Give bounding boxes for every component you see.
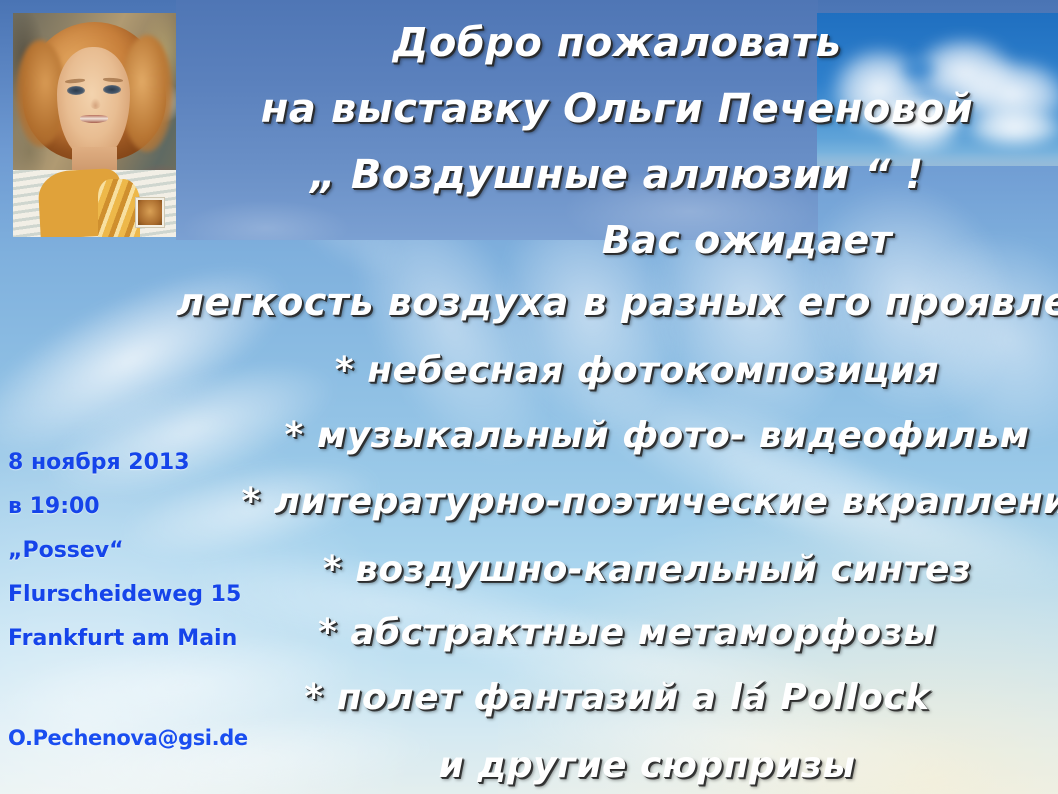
heading-lightness: легкость воздуха в разных его проявления…	[176, 280, 1058, 324]
event-details: 8 ноября 2013 в 19:00 „Possev“ Flurschei…	[8, 452, 308, 672]
list-item-abstract-metamorphoses: * абстрактные метаморфозы	[176, 612, 1058, 653]
portrait-eye-left	[67, 86, 85, 95]
event-city: Frankfurt am Main	[8, 628, 308, 650]
portrait-eye-right	[103, 85, 121, 94]
heading-exhibition: на выставку Ольги Печеновой	[176, 86, 1058, 132]
list-item-music-video-film: * музыкальный фото- видеофильм	[176, 415, 1058, 456]
event-date: 8 ноября 2013	[8, 452, 308, 474]
portrait-mouth	[80, 115, 108, 123]
invitation-slide: Добро пожаловать на выставку Ольги Печен…	[0, 0, 1058, 794]
heading-awaits: Вас ожидает	[176, 218, 1058, 262]
list-item-other-surprises: и другие сюрпризы	[176, 745, 1058, 786]
portrait-photo	[13, 13, 176, 237]
heading-welcome: Добро пожаловать	[176, 20, 1058, 66]
event-street: Flurscheideweg 15	[8, 584, 308, 606]
heading-exhibition-name: „ Воздушные аллюзии “ !	[176, 152, 1058, 198]
contact-email-link[interactable]: O.Pechenova@gsi.de	[8, 726, 248, 750]
portrait-gold-scarf-tail	[98, 179, 140, 237]
event-venue: „Possev“	[8, 540, 308, 562]
list-item-pollock-fantasy: * полет фантазий а lá Pollock	[176, 677, 1058, 718]
list-item-sky-photo-composition: * небесная фотокомпозиция	[176, 350, 1058, 391]
invitation-text-block: Добро пожаловать на выставку Ольги Печен…	[176, 0, 1058, 794]
portrait-artwork	[13, 13, 176, 237]
list-item-aerosol-synthesis: * воздушно-капельный синтез	[176, 549, 1058, 590]
portrait-inset-stamp	[135, 197, 165, 228]
event-time: в 19:00	[8, 496, 308, 518]
list-item-literary-poetic: * литературно-поэтические вкрапления	[176, 481, 1058, 522]
